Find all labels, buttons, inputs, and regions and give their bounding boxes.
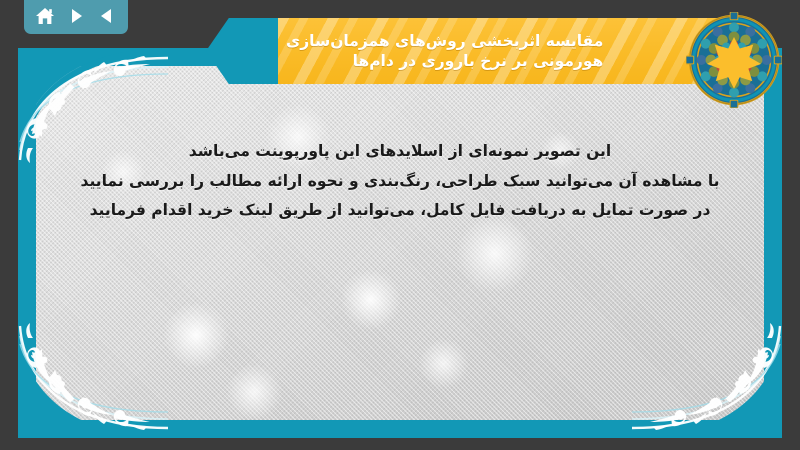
page-title: مقایسه اثربخشی روش‌های همزمان‌سازی هورمو…	[286, 31, 603, 72]
slide-frame: این تصویر نمونه‌ای از اسلایدهای این پاور…	[18, 48, 782, 438]
slide-body-text: این تصویر نمونه‌ای از اسلایدهای این پاور…	[58, 144, 742, 219]
mandala-medallion-icon	[686, 12, 782, 108]
triangle-right-icon	[67, 7, 85, 25]
slide-navigation-bar	[24, 0, 128, 34]
slide-viewer: این تصویر نمونه‌ای از اسلایدهای این پاور…	[0, 0, 800, 450]
title-line-2: هورمونی بر نرخ باروری در دام‌ها	[286, 51, 603, 71]
triangle-left-icon	[98, 7, 116, 25]
title-line-1: مقایسه اثربخشی روش‌های همزمان‌سازی	[286, 31, 603, 51]
previous-slide-button[interactable]	[95, 4, 119, 28]
home-icon	[35, 7, 55, 26]
next-slide-button[interactable]	[64, 4, 88, 28]
slide-title-banner: مقایسه اثربخشی روش‌های همزمان‌سازی هورمو…	[278, 18, 722, 84]
body-line-3: در صورت تمایل به دریافت فایل کامل، می‌تو…	[58, 203, 742, 219]
body-line-2: با مشاهده آن می‌توانید سبک طراحی، رنگ‌بن…	[58, 174, 742, 190]
home-button[interactable]	[33, 4, 57, 28]
slide-content-panel	[36, 66, 764, 420]
body-line-1: این تصویر نمونه‌ای از اسلایدهای این پاور…	[58, 144, 742, 160]
